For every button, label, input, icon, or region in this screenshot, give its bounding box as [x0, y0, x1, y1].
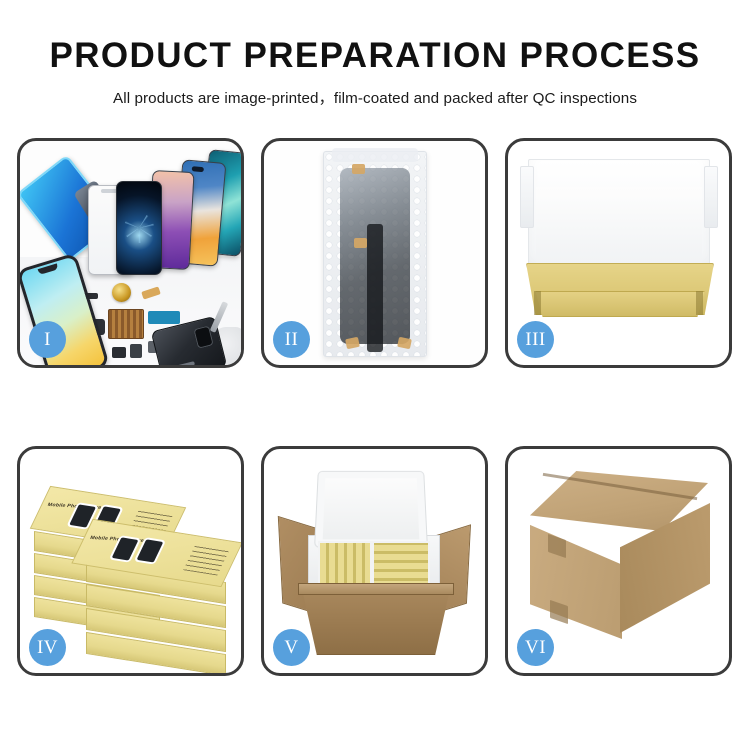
phone-dark-display-icon — [116, 181, 162, 275]
process-step-grid: I II — [17, 138, 733, 676]
process-step-panel-1: I — [17, 138, 244, 368]
tape-piece-icon — [354, 238, 367, 248]
foam-box-contents — [318, 541, 430, 589]
carton-lip — [298, 583, 454, 595]
process-step-panel-5: V — [261, 446, 488, 676]
process-step-panel-4: Mobile Phone Spare Parts Mobile Phone Sp… — [17, 446, 244, 676]
yellow-boxes-group-right — [374, 543, 428, 587]
step-badge-5: V — [273, 629, 310, 666]
flex-cable-b-icon — [148, 311, 180, 324]
foam-lid-icon — [314, 471, 428, 548]
box-inner-wall — [536, 187, 702, 269]
tape-piece-icon — [397, 337, 412, 349]
step-badge-1: I — [29, 321, 66, 358]
chip-2-icon — [112, 347, 126, 358]
kraft-box-front-panel — [530, 291, 710, 317]
sealed-carton-left-face — [530, 515, 622, 639]
box-cutout-right — [696, 291, 703, 315]
tape-piece-icon — [352, 164, 365, 174]
step-badge-6: VI — [517, 629, 554, 666]
yellow-boxes-group-left — [320, 543, 370, 587]
box-spec-text-block — [183, 544, 229, 575]
tape-piece-icon — [345, 337, 360, 349]
step-badge-4: IV — [29, 629, 66, 666]
bubble-wrap-bag-icon — [323, 151, 427, 357]
coil-component-icon — [112, 283, 131, 302]
page-title: PRODUCT PREPARATION PROCESS — [0, 38, 750, 75]
carton-front-icon — [302, 589, 450, 655]
process-step-panel-3: III — [505, 138, 732, 368]
page-subtitle: All products are image-printed，film-coat… — [0, 86, 750, 108]
step-badge-3: III — [517, 321, 554, 358]
circuit-board-icon — [108, 309, 144, 339]
process-step-panel-2: II — [261, 138, 488, 368]
header: PRODUCT PREPARATION PROCESS All products… — [0, 0, 750, 108]
process-step-panel-6: VI — [505, 446, 732, 676]
bag-top — [332, 148, 418, 162]
step-badge-2: II — [273, 321, 310, 358]
chip-3-icon — [130, 344, 142, 358]
box-cutout-left — [534, 291, 541, 315]
screen-flex-strip — [367, 224, 383, 352]
product-preparation-infographic: PRODUCT PREPARATION PROCESS All products… — [0, 0, 750, 750]
